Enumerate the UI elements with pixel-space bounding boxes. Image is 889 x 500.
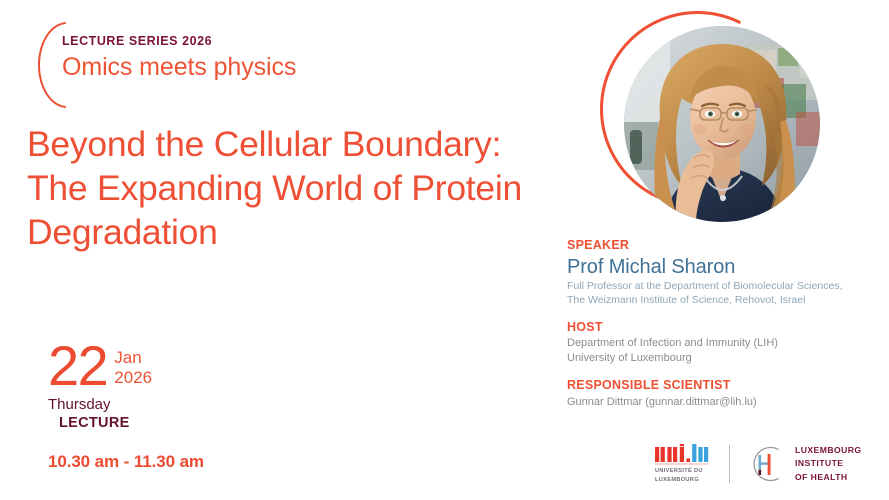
lih-mark-icon [745,444,785,484]
unilu-logo-text-line-1: UNIVERSITÉ DU [655,467,703,475]
series-kicker: LECTURE SERIES 2026 [62,35,482,49]
date-row: 22 Jan 2026 [48,340,348,392]
lecture-title: Beyond the Cellular Boundary: The Expand… [27,123,527,254]
speaker-avatar [624,26,820,222]
host-line-2: University of Luxembourg [567,351,885,366]
logo-divider [729,445,730,483]
event-time-range: 10.30 am - 11.30 am [48,452,204,472]
event-kind-badge: LECTURE [59,415,348,432]
series-header: LECTURE SERIES 2026 Omics meets physics [62,35,482,82]
lecture-poster: LECTURE SERIES 2026 Omics meets physics … [0,0,889,500]
speaker-affiliation-line-1: Full Professor at the Department of Biom… [567,280,885,294]
lih-logo-text-line-1: LUXEMBOURG [795,444,862,457]
lih-logo-text-line-2: INSTITUTE [795,457,862,470]
lih-logo-text-line-3: OF HEALTH [795,471,862,484]
unilu-wordmark-icon [655,444,713,465]
unilu-logo-text-line-2: LUXEMBOURG [655,476,703,484]
date-month-year: Jan 2026 [114,340,152,388]
speaker-affiliation-line-2: The Weizmann Institute of Science, Rehov… [567,294,885,308]
date-block: 22 Jan 2026 Thursday LECTURE [48,340,348,431]
responsible-scientist-body: Gunnar Dittmar (gunnar.dittmar@lih.lu) [567,395,885,410]
speaker-name: Prof Michal Sharon [567,255,885,279]
date-year: 2026 [114,368,152,388]
poster-left-column: LECTURE SERIES 2026 Omics meets physics … [0,0,560,500]
host-line-1: Department of Infection and Immunity (LI… [567,336,885,351]
host-body: Department of Infection and Immunity (LI… [567,336,885,366]
unilu-logo-text: UNIVERSITÉ DU LUXEMBOURG [655,467,703,483]
speaker-affiliation: Full Professor at the Department of Biom… [567,280,885,308]
poster-right-column: SPEAKER Prof Michal Sharon Full Professo… [560,0,889,500]
host-label: HOST [567,320,885,336]
responsible-scientist-line-1: Gunnar Dittmar (gunnar.dittmar@lih.lu) [567,395,885,410]
date-month: Jan [114,348,152,368]
date-weekday: Thursday [48,396,348,413]
responsible-scientist-label: RESPONSIBLE SCIENTIST [567,378,885,394]
date-day: 22 [48,340,107,392]
speaker-label: SPEAKER [567,238,885,254]
logo-bar: UNIVERSITÉ DU LUXEMBOURG [655,437,862,491]
event-info-block: SPEAKER Prof Michal Sharon Full Professo… [567,238,885,410]
series-title: Omics meets physics [62,53,482,83]
responsible-scientist-group: RESPONSIBLE SCIENTIST Gunnar Dittmar (gu… [567,378,885,410]
host-group: HOST Department of Infection and Immunit… [567,320,885,367]
luxembourg-institute-of-health-logo: LUXEMBOURG INSTITUTE OF HEALTH [745,444,862,484]
speaker-portrait [600,8,820,233]
speaker-group: SPEAKER Prof Michal Sharon Full Professo… [567,238,885,308]
lih-logo-text: LUXEMBOURG INSTITUTE OF HEALTH [795,444,862,483]
university-of-luxembourg-logo: UNIVERSITÉ DU LUXEMBOURG [655,444,713,483]
